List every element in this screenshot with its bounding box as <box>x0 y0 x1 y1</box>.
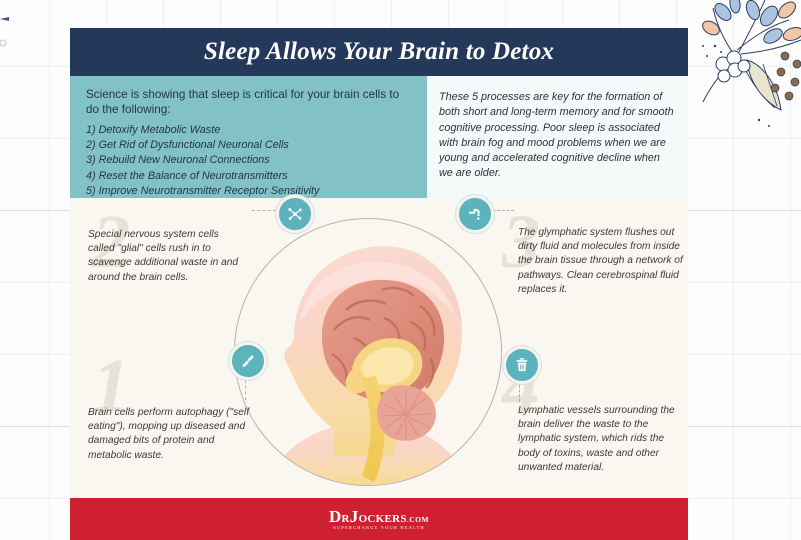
panel-right-text: These 5 processes are key for the format… <box>439 90 674 182</box>
connector-line-2 <box>252 210 276 211</box>
step-note-2: Special nervous system cells called "gli… <box>88 228 248 285</box>
brand-logo[interactable]: DRJOCKERS.COM SUPERCHARGE YOUR HEALTH <box>329 508 429 531</box>
list-item: 2) Get Rid of Dysfunctional Neuronal Cel… <box>86 138 413 153</box>
connector-line-1 <box>245 380 247 400</box>
infographic-footer: DRJOCKERS.COM SUPERCHARGE YOUR HEALTH <box>70 498 688 540</box>
head-illustration <box>234 218 502 486</box>
left-decoration-icon-2 <box>0 38 10 48</box>
trash-bin-icon[interactable] <box>503 346 541 384</box>
brand-ockers: OCKERS <box>359 513 407 525</box>
list-item: 4) Reset the Balance of Neurotransmitter… <box>86 169 413 184</box>
broom-icon[interactable] <box>229 342 267 380</box>
benefits-list: 1) Detoxify Metabolic Waste 2) Get Rid o… <box>86 123 413 199</box>
molecule-cell-icon[interactable] <box>276 195 314 233</box>
page-title: Sleep Allows Your Brain to Detox <box>204 38 554 66</box>
list-item: 3) Rebuild New Neuronal Connections <box>86 153 413 168</box>
brand-domain: .COM <box>407 515 429 524</box>
list-item: 5) Improve Neurotransmitter Receptor Sen… <box>86 184 413 199</box>
brand-r: R <box>342 513 350 525</box>
panel-left: Science is showing that sleep is critica… <box>70 76 427 198</box>
left-decoration-icon <box>0 14 10 24</box>
panel-right: These 5 processes are key for the format… <box>427 76 688 198</box>
step-note-4: Lymphatic vessels surrounding the brain … <box>518 404 686 475</box>
diagram-area: 2 3 1 4 <box>70 198 688 498</box>
step-note-1: Brain cells perform autophagy ("self eat… <box>88 406 258 463</box>
brand-j: J <box>350 507 359 526</box>
infographic-card: Sleep Allows Your Brain to Detox Science… <box>70 28 688 540</box>
intro-panels: Science is showing that sleep is critica… <box>70 76 688 198</box>
brand-d: D <box>329 507 342 526</box>
infographic-title-bar: Sleep Allows Your Brain to Detox <box>70 28 688 76</box>
list-item: 1) Detoxify Metabolic Waste <box>86 123 413 138</box>
panel-left-intro: Science is showing that sleep is critica… <box>86 87 413 117</box>
faucet-icon[interactable] <box>456 195 494 233</box>
step-note-3: The glymphatic system flushes out dirty … <box>518 226 684 297</box>
brand-tagline: SUPERCHARGE YOUR HEALTH <box>329 526 429 531</box>
botanical-decoration-icon <box>677 0 801 180</box>
